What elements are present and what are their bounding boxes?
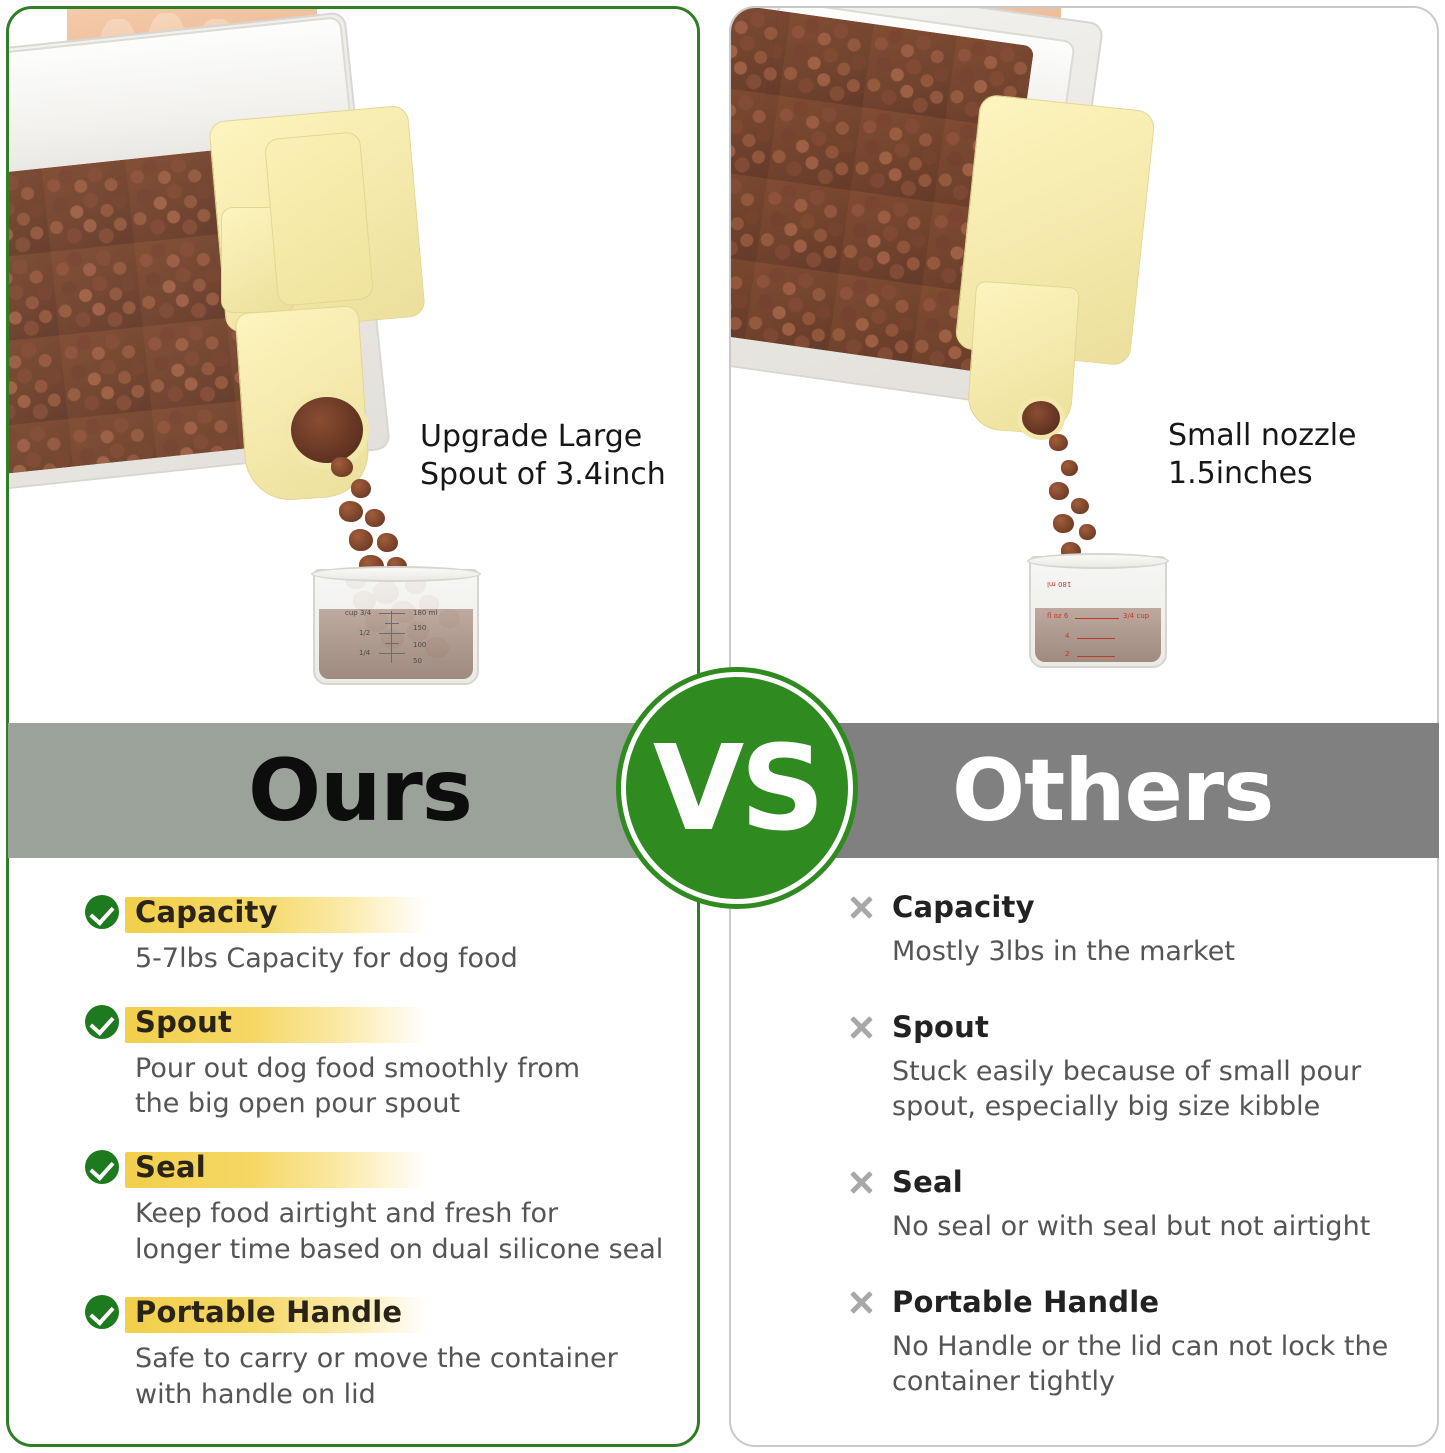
cup-mark: 180 ml	[1047, 580, 1071, 588]
check-circle-icon	[85, 895, 119, 929]
feature-description: Mostly 3lbs in the market	[892, 934, 1406, 970]
feature-item: Spout Stuck easily because of small pour…	[846, 1010, 1406, 1125]
feature-title: Spout	[892, 1010, 989, 1044]
ours-callout-text: Upgrade Large Spout of 3.4inch	[420, 418, 666, 495]
cup-rim	[311, 566, 481, 582]
feature-title: Capacity	[892, 890, 1035, 924]
cup-mark: 4	[1065, 632, 1069, 640]
measuring-cup: cup 3/4 1/2 1/4 180 ml 150 100 50	[313, 569, 479, 685]
check-circle-icon	[85, 1150, 119, 1184]
vs-badge: VS	[621, 672, 853, 904]
feature-title: Seal	[892, 1165, 963, 1199]
spout-opening	[285, 391, 369, 469]
feature-title: Spout	[135, 1005, 232, 1039]
vs-label: VS	[653, 729, 821, 847]
cup-mark: 150	[413, 624, 426, 632]
feature-description: No seal or with seal but not airtight	[892, 1209, 1406, 1245]
feature-title: Capacity	[135, 895, 278, 929]
check-circle-icon	[85, 1295, 119, 1329]
cup-mark: cup 3/4	[345, 609, 371, 617]
check-circle-icon	[85, 1005, 119, 1039]
comparison-infographic: cup 3/4 1/2 1/4 180 ml 150 100 50 Upgrad…	[0, 0, 1445, 1453]
feature-description: Stuck easily because of small pour spout…	[892, 1054, 1406, 1125]
cup-mark: 1/4	[359, 649, 370, 657]
feature-item: Capacity 5-7lbs Capacity for dog food	[85, 895, 685, 977]
cup-mark: 1/2	[359, 629, 370, 637]
lid-inner-panel	[264, 131, 374, 307]
measuring-cup: 180 ml fl oz 6 4 2 3/4 cup	[1029, 556, 1167, 668]
ours-label: Ours	[248, 723, 472, 858]
cup-contents	[319, 609, 473, 679]
cup-rim	[1027, 553, 1169, 569]
feature-item: Seal No seal or with seal but not airtig…	[846, 1165, 1406, 1245]
feature-title: Seal	[135, 1150, 206, 1184]
feature-item: Portable Handle No Handle or the lid can…	[846, 1285, 1406, 1400]
feature-item: Capacity Mostly 3lbs in the market	[846, 890, 1406, 970]
cup-mark: 3/4 cup	[1123, 612, 1149, 620]
cup-mark: 180 ml	[413, 609, 437, 617]
cup-mark: fl oz 6	[1047, 612, 1068, 620]
cup-mark: 100	[413, 641, 426, 649]
ours-feature-list: Capacity 5-7lbs Capacity for dog food Sp…	[85, 895, 685, 1440]
feature-title: Portable Handle	[892, 1285, 1159, 1319]
others-feature-list: Capacity Mostly 3lbs in the market Spout…	[846, 890, 1406, 1440]
cross-icon	[846, 892, 876, 922]
cup-mark: 2	[1065, 650, 1069, 658]
cup-mark: 50	[413, 657, 422, 665]
cross-icon	[846, 1167, 876, 1197]
ours-product-photo: cup 3/4 1/2 1/4 180 ml 150 100 50 Upgrad…	[9, 9, 697, 725]
feature-description: 5-7lbs Capacity for dog food	[135, 941, 685, 977]
feature-description: Pour out dog food smoothly from the big …	[135, 1051, 685, 1122]
feature-description: Safe to carry or move the container with…	[135, 1341, 685, 1412]
feature-item: Spout Pour out dog food smoothly from th…	[85, 1005, 685, 1122]
feature-title: Portable Handle	[135, 1295, 402, 1329]
others-product-photo: 180 ml fl oz 6 4 2 3/4 cup Small nozzle …	[731, 8, 1437, 724]
cross-icon	[846, 1287, 876, 1317]
others-label: Others	[952, 723, 1273, 858]
feature-description: Keep food airtight and fresh for longer …	[135, 1196, 685, 1267]
feature-item: Seal Keep food airtight and fresh for lo…	[85, 1150, 685, 1267]
others-callout-text: Small nozzle 1.5inches	[1168, 417, 1357, 494]
cross-icon	[846, 1012, 876, 1042]
feature-description: No Handle or the lid can not lock the co…	[892, 1329, 1406, 1400]
feature-item: Portable Handle Safe to carry or move th…	[85, 1295, 685, 1412]
